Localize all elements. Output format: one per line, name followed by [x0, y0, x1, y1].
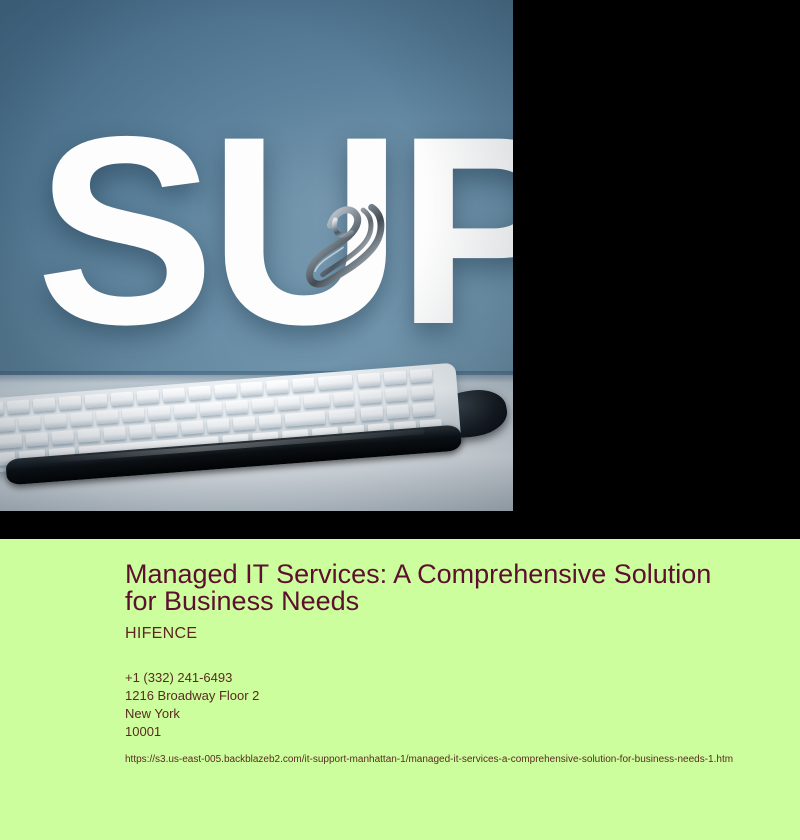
page-root: SUP: [0, 0, 800, 840]
wall-lettering: SUP: [36, 96, 513, 364]
source-url[interactable]: https://s3.us-east-005.backblazeb2.com/i…: [125, 753, 800, 767]
info-panel: Managed IT Services: A Comprehensive Sol…: [0, 539, 800, 840]
contact-street: 1216 Broadway Floor 2: [125, 687, 800, 705]
brand-name: HIFENCE: [125, 625, 800, 643]
info-content: Managed IT Services: A Comprehensive Sol…: [125, 561, 800, 767]
contact-zip: 10001: [125, 723, 800, 741]
contact-list: +1 (332) 241-6493 1216 Broadway Floor 2 …: [125, 669, 800, 741]
hero-band: SUP: [0, 0, 800, 539]
paperclip-icon: [298, 182, 396, 301]
hero-photo: SUP: [0, 0, 513, 511]
page-title: Managed IT Services: A Comprehensive Sol…: [125, 561, 725, 615]
contact-city: New York: [125, 705, 800, 723]
contact-phone: +1 (332) 241-6493: [125, 669, 800, 687]
